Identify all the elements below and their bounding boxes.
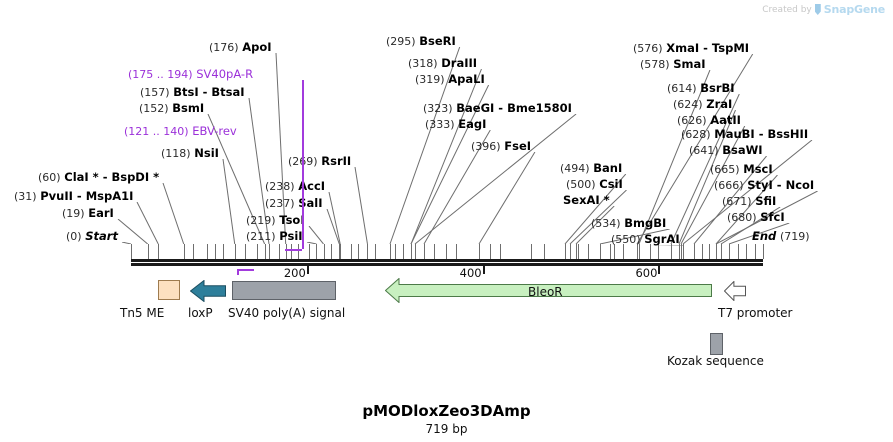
enzyme-cut-tick [367,244,368,259]
enzyme-cut-tick [411,244,412,259]
enzyme-label: (628) MauBI - BssHII [681,128,808,141]
feature-label: BleoR [528,285,563,299]
enzyme-cut-tick [746,244,747,259]
axis-tick [307,266,309,274]
enzyme-name: ClaI * - BspDI * [64,170,159,184]
enzyme-position: (157) [140,86,170,99]
enzyme-label: (680) SfcI [727,211,785,224]
enzyme-name: BsrBI [700,81,734,95]
backbone-line-1 [131,263,763,266]
enzyme-cut-tick [650,244,651,259]
enzyme-cut-tick [578,244,579,259]
feature-tn5-me[interactable] [158,280,180,300]
enzyme-cut-tick [316,244,317,259]
enzyme-cut-tick [158,244,159,259]
enzyme-name: EagI [458,117,486,131]
plasmid-map: Created by SnapGene (31) PvuII - MspA1I(… [0,0,893,442]
primer-label: (121 .. 140) EBV-rev [124,125,237,138]
enzyme-name: PvuII - MspA1I [40,189,133,203]
terminal-label-start: (0) Start [66,230,118,243]
enzyme-cut-tick [148,244,149,259]
terminal-name: Start [85,229,118,243]
terminal-position: (0) [66,230,82,243]
feature-label: Tn5 ME [120,306,164,320]
enzyme-position: (219) [246,214,276,227]
primer-label: (175 .. 194) SV40pA-R [128,68,253,81]
watermark-prefix: Created by [762,5,812,15]
enzyme-cut-tick [235,244,236,259]
enzyme-label: (318) DraIII [408,57,477,70]
enzyme-cut-tick [610,244,611,259]
enzyme-cut-tick [245,244,246,259]
enzyme-position: (628) [681,128,711,141]
enzyme-cut-tick [721,244,722,259]
enzyme-name: AatII [710,113,741,127]
enzyme-name: PsiI [279,229,302,243]
enzyme-name: FseI [504,139,531,153]
enzyme-cut-tick [694,244,695,259]
enzyme-name: BsmI [172,101,204,115]
page-title: pMODloxZeo3DAmp [0,402,893,420]
enzyme-cut-tick [738,244,739,259]
enzyme-label: (624) ZraI [673,98,732,111]
enzyme-label: (396) FseI [471,140,531,153]
enzyme-cut-tick [600,244,601,259]
enzyme-name: BsaWI [722,143,762,157]
enzyme-label: (666) StyI - NcoI [714,179,814,192]
enzyme-name: SfcI [760,210,784,224]
leader-line [161,183,186,244]
enzyme-position: (31) [14,190,37,203]
enzyme-label: (576) XmaI - TspMI [633,42,749,55]
enzyme-label: (152) BsmI [139,102,204,115]
enzyme-cut-tick [671,244,672,259]
primer-range: (121 .. 140) [124,125,189,138]
enzyme-position: (176) [209,41,239,54]
feature-label: loxP [188,306,213,320]
enzyme-name: CsiI [599,177,623,191]
enzyme-position: (396) [471,140,501,153]
enzyme-position: (19) [62,207,85,220]
feature-sv40-poly-a-signal[interactable] [232,281,336,300]
enzyme-cut-tick [286,244,287,259]
terminal-name: End [752,229,776,243]
snapgene-logo-icon [815,4,821,15]
enzyme-cut-tick [570,244,571,259]
enzyme-position: (500) [566,178,596,191]
axis-tick [483,266,485,274]
enzyme-cut-tick [709,244,710,259]
enzyme-position: (333) [425,118,455,131]
enzyme-name: MauBI - BssHII [714,127,808,141]
leader-line [477,152,537,244]
feature-label: Kozak sequence [667,354,764,368]
enzyme-position: (578) [640,58,670,71]
watermark-brand: SnapGene [824,3,885,16]
enzyme-position: (550) [611,233,641,246]
enzyme-label: (323) BaeGI - Bme1580I [423,102,572,115]
enzyme-cut-tick [279,244,280,259]
enzyme-label: (500) CsiI [566,178,623,191]
enzyme-position: (624) [673,98,703,111]
enzyme-cut-tick [623,244,624,259]
enzyme-cut-tick [223,244,224,259]
enzyme-name: BaeGI - Bme1580I [456,101,572,115]
backbone-line-0 [131,259,763,262]
enzyme-label: (219) TsoI [246,214,305,227]
enzyme-position: (152) [139,102,169,115]
enzyme-position: (318) [408,57,438,70]
enzyme-cut-tick [375,244,376,259]
enzyme-label: (269) RsrII [288,155,351,168]
enzyme-cut-tick [207,244,208,259]
enzyme-cut-tick [565,244,566,259]
enzyme-label: (176) ApoI [209,41,272,54]
enzyme-position: (323) [423,102,453,115]
enzyme-position: (626) [677,114,707,127]
enzyme-position: (641) [689,144,719,157]
terminal-label-end: End (719) [752,230,810,243]
enzyme-name: XmaI - TspMI [666,41,749,55]
primer-name: SV40pA-R [196,67,253,81]
enzyme-label: (665) MscI [710,163,773,176]
enzyme-label: (238) AccI [265,180,325,193]
enzyme-label: (211) PsiI [246,230,303,243]
enzyme-position: (671) [722,195,752,208]
enzyme-label: (333) EagI [425,118,486,131]
plasmid-length: 719 bp [0,422,893,436]
enzyme-cut-tick [298,244,299,259]
enzyme-cut-tick [639,244,640,259]
enzyme-position: (494) [560,162,590,175]
enzyme-cut-tick [490,244,491,259]
enzyme-cut-tick [331,244,332,259]
enzyme-position: (237) [265,197,295,210]
enzyme-cut-tick [729,244,730,259]
enzyme-position: (680) [727,211,757,224]
enzyme-name: ApaLI [448,72,485,86]
enzyme-cut-tick [324,244,325,259]
enzyme-name: StyI - NcoI [747,178,814,192]
enzyme-label: (614) BsrBI [667,82,735,95]
enzyme-label: (118) NsiI [161,147,219,160]
enzyme-cut-tick [702,244,703,259]
feature-t7-promoter[interactable] [724,281,746,301]
enzyme-position: (534) [591,217,621,230]
enzyme-name: DraIII [441,56,477,70]
enzyme-label: (550) SgrAI [611,233,680,246]
enzyme-label: (237) SalI [265,197,323,210]
enzyme-name: ZraI [706,97,732,111]
enzyme-cut-tick [658,244,659,259]
enzyme-cut-tick [309,244,310,259]
enzyme-name: ApoI [242,40,271,54]
enzyme-name: EarI [88,206,114,220]
enzyme-label: (494) BanI [560,162,622,175]
snapgene-watermark: Created by SnapGene [762,3,885,16]
enzyme-name: BtsI - BtsaI [173,85,244,99]
enzyme-name: BseRI [419,34,456,48]
enzyme-cut-tick [403,244,404,259]
enzyme-cut-tick [215,244,216,259]
enzyme-label: (31) PvuII - MspA1I [14,190,133,203]
enzyme-cut-tick [755,244,756,259]
enzyme-name: RsrII [321,154,351,168]
enzyme-cut-tick [544,244,545,259]
enzyme-cut-tick [479,244,480,259]
enzyme-position: (118) [161,147,191,160]
enzyme-label: (534) BmgBI [591,217,666,230]
enzyme-cut-tick [291,244,292,259]
enzyme-name: BmgBI [624,216,666,230]
enzyme-name: SexAI * [563,193,610,207]
enzyme-label: SexAI * [563,194,610,206]
enzyme-label: (319) ApaLI [415,73,485,86]
feature-label: T7 promoter [718,306,792,320]
enzyme-name: SfiI [755,194,776,208]
enzyme-cut-tick [446,244,447,259]
enzyme-cut-tick [340,244,341,259]
enzyme-cut-tick [415,244,416,259]
enzyme-cut-tick [588,244,589,259]
enzyme-name: SmaI [673,57,705,71]
enzyme-name: BanI [593,161,622,175]
enzyme-label: (578) SmaI [640,58,706,71]
enzyme-cut-tick [531,244,532,259]
enzyme-name: MscI [743,162,772,176]
enzyme-cut-tick [269,244,270,259]
primer-range: (175 .. 194) [128,68,193,81]
enzyme-cut-tick [614,244,615,259]
enzyme-cut-tick [358,244,359,259]
enzyme-cut-tick [131,244,132,259]
enzyme-cut-tick [500,244,501,259]
enzyme-label: (60) ClaI * - BspDI * [38,171,159,184]
enzyme-position: (665) [710,163,740,176]
enzyme-cut-tick [257,244,258,259]
enzyme-position: (211) [246,230,276,243]
enzyme-label: (157) BtsI - BtsaI [140,86,245,99]
enzyme-position: (576) [633,42,663,55]
enzyme-position: (238) [265,180,295,193]
enzyme-cut-tick [434,244,435,259]
enzyme-position: (295) [386,35,416,48]
enzyme-label: (671) SfiI [722,195,776,208]
enzyme-position: (60) [38,171,61,184]
enzyme-position: (614) [667,82,697,95]
leader-line [353,167,369,244]
enzyme-cut-tick [763,244,764,259]
feature-label: SV40 poly(A) signal [228,306,345,320]
enzyme-label: (626) AatII [677,114,741,127]
primer-name: EBV-rev [192,124,237,138]
enzyme-label: (19) EarI [62,207,114,220]
enzyme-cut-tick [683,244,684,259]
leader-line [307,226,326,244]
enzyme-name: SgrAI [644,232,679,246]
terminal-position: (719) [780,230,810,243]
feature-kozak-sequence[interactable] [710,333,723,355]
axis-tick-label: 200 [282,266,306,280]
enzyme-position: (319) [415,73,445,86]
leader-line [327,192,342,244]
axis-tick [658,266,660,274]
enzyme-cut-tick [390,244,391,259]
enzyme-label: (641) BsaWI [689,144,763,157]
enzyme-cut-tick [351,244,352,259]
enzyme-cut-tick [456,244,457,259]
enzyme-cut-tick [184,244,185,259]
enzyme-cut-tick [716,244,717,259]
enzyme-cut-tick [265,244,266,259]
enzyme-cut-tick [193,244,194,259]
enzyme-label: (295) BseRI [386,35,456,48]
enzyme-name: NsiI [194,146,219,160]
leader-line [116,219,150,244]
enzyme-cut-tick [424,244,425,259]
feature-loxp[interactable] [190,280,226,302]
enzyme-position: (666) [714,179,744,192]
enzyme-cut-tick [395,244,396,259]
